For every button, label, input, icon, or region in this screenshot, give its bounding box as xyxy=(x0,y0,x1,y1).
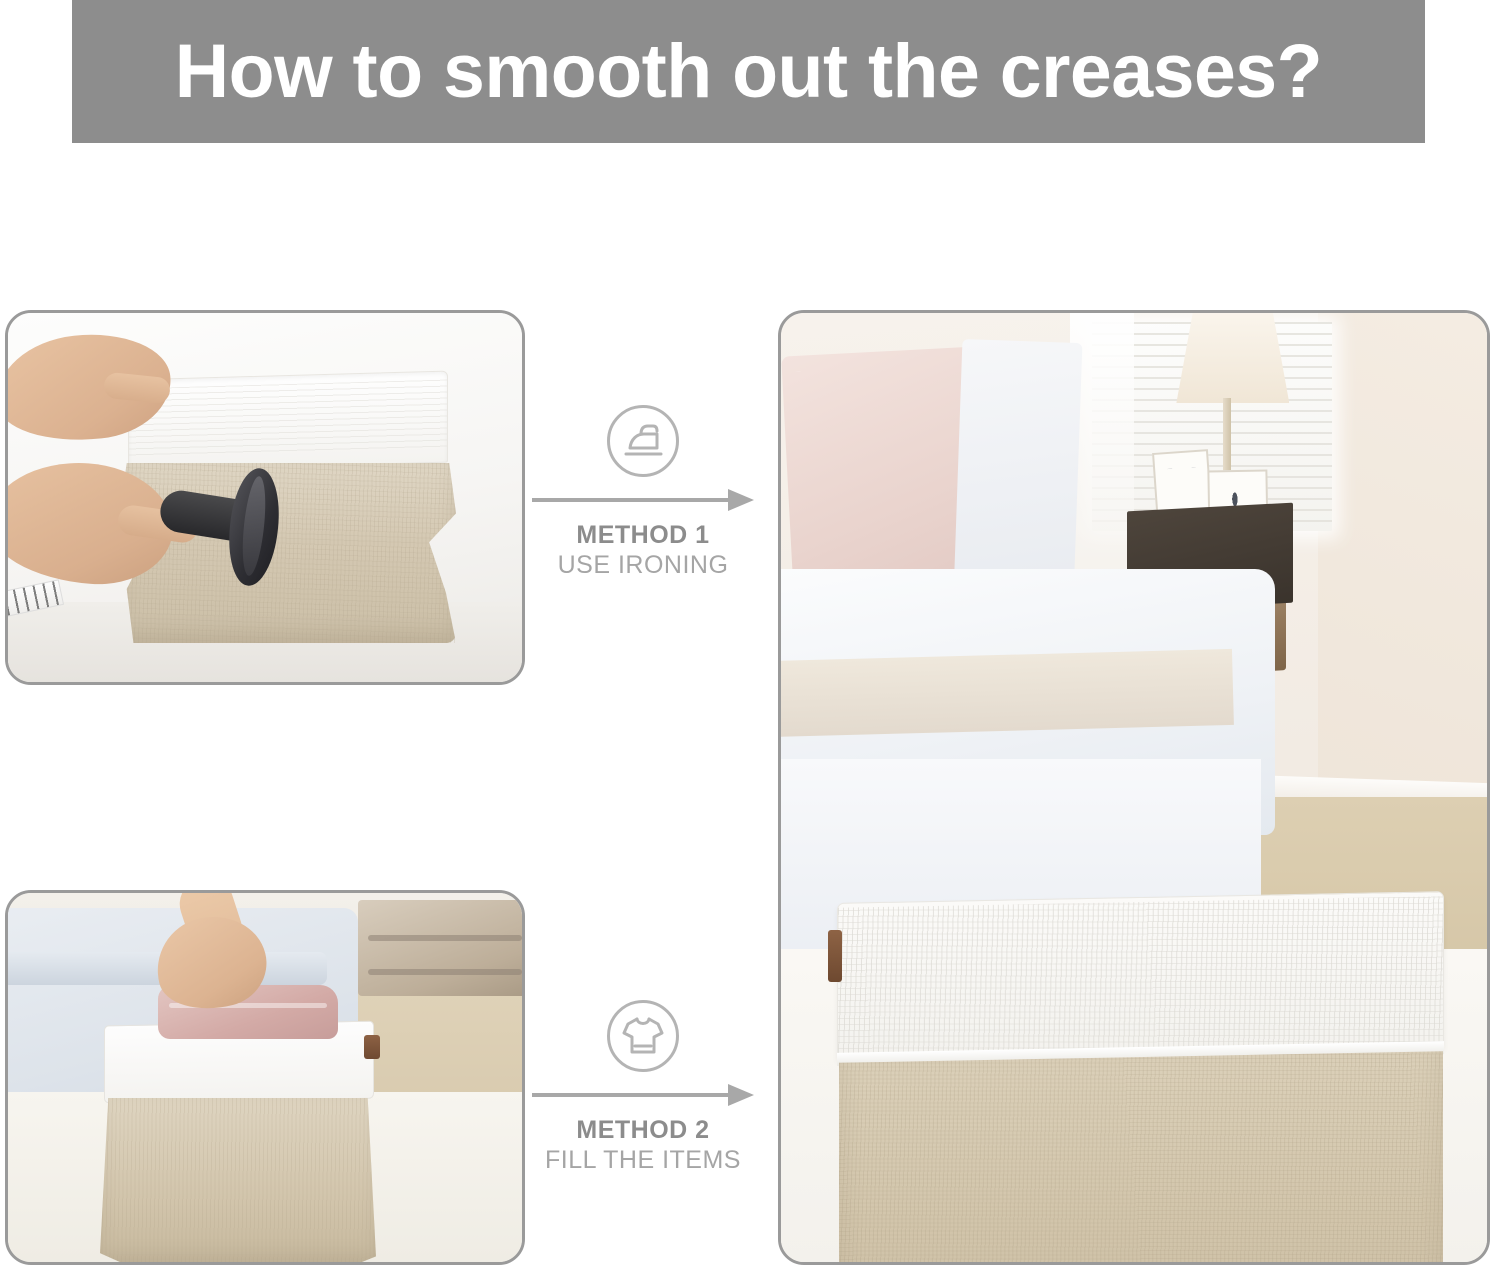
method-2-block: METHOD 2 FILL THE ITEMS xyxy=(528,1000,758,1175)
photo-content-steaming xyxy=(8,313,522,682)
arrow-head xyxy=(728,1084,754,1106)
method-2-title: METHOD 2 xyxy=(528,1116,758,1146)
leather-tag xyxy=(828,930,842,982)
photo-content-bedroom xyxy=(781,313,1487,1262)
filling-basket-photo xyxy=(5,890,525,1265)
arrow-head xyxy=(728,489,754,511)
iron-icon xyxy=(607,405,679,477)
basket-beige-body xyxy=(839,1051,1443,1265)
steaming-basket-photo xyxy=(5,310,525,685)
basket-beige-body xyxy=(120,463,456,643)
bedroom-dresser xyxy=(358,900,525,996)
arrow-line xyxy=(532,1093,728,1097)
method-1-subtitle: USE IRONING xyxy=(528,551,758,581)
arrow-line xyxy=(532,498,728,502)
photo-content-filling xyxy=(8,893,522,1262)
method-1-title: METHOD 1 xyxy=(528,521,758,551)
basket-white-top xyxy=(128,371,448,472)
bed-blanket xyxy=(778,649,1234,737)
method-2-subtitle: FILL THE ITEMS xyxy=(528,1146,758,1176)
arrow-right-method-1 xyxy=(532,489,754,511)
white-pillow xyxy=(953,339,1082,599)
arrow-right-method-2 xyxy=(532,1084,754,1106)
basket-beige-body xyxy=(100,1098,376,1263)
title-banner: How to smooth out the creases? xyxy=(72,0,1425,143)
bedroom-result-photo xyxy=(778,310,1490,1265)
basket-white-top xyxy=(837,891,1444,1059)
leather-tag xyxy=(364,1035,380,1059)
lamp-shade xyxy=(1176,310,1289,403)
method-1-block: METHOD 1 USE IRONING xyxy=(528,405,758,580)
tshirt-icon xyxy=(607,1000,679,1072)
infographic-page: How to smooth out the creases? xyxy=(0,0,1500,1276)
page-title: How to smooth out the creases? xyxy=(175,34,1322,110)
